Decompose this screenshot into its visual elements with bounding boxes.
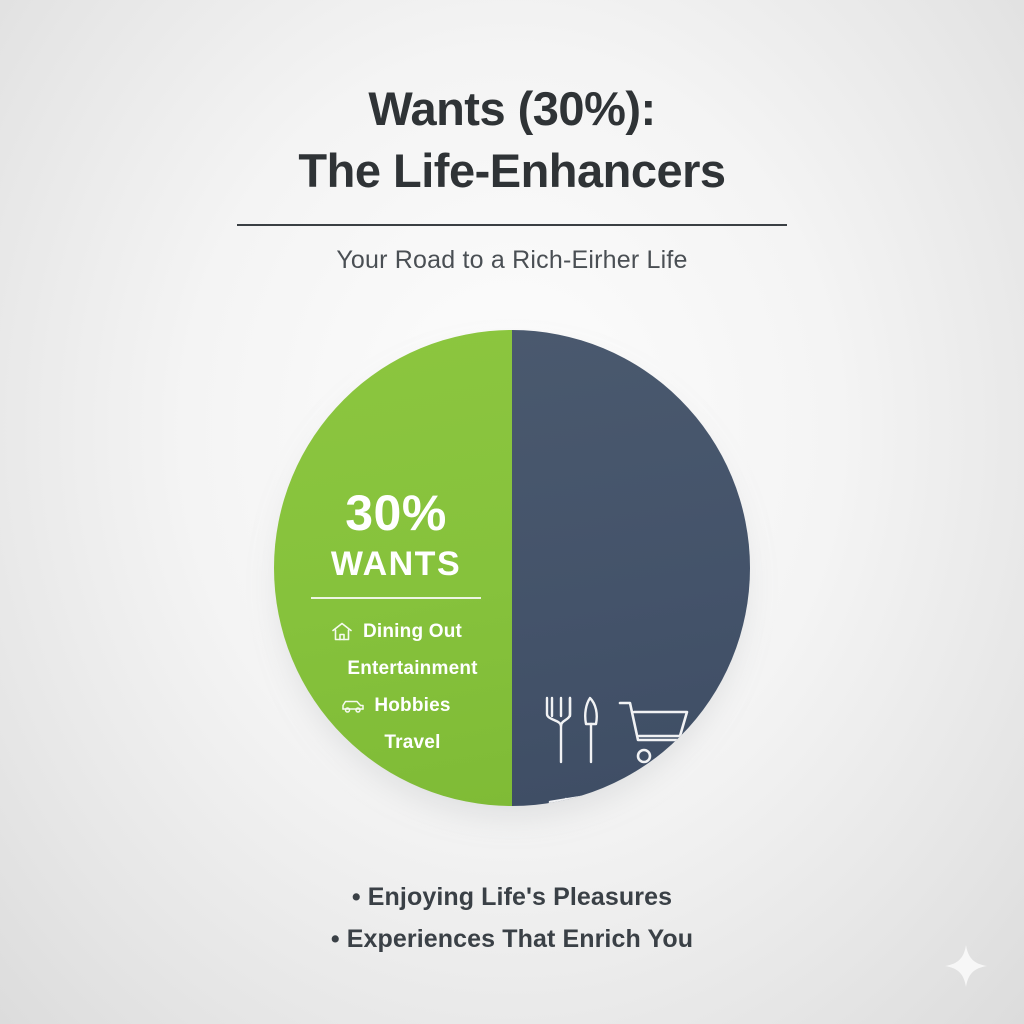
sparkle-icon (942, 942, 990, 990)
cutlery-icon (542, 694, 604, 771)
list-item-label: Entertainment (347, 658, 477, 680)
page-title-line-2: The Life-Enhancers (0, 140, 1024, 202)
circle-body: 30% WANTS Dining Out Entertai (274, 330, 750, 806)
wants-percent-label: WANTS (280, 547, 512, 581)
wants-category-list: Dining Out Entertainment (280, 613, 512, 761)
list-item-label: Hobbies (374, 695, 450, 717)
bullet-item: • Enjoying Life's Pleasures (0, 876, 1024, 918)
summary-divider (311, 597, 481, 599)
shopping-cart-icon (617, 698, 693, 773)
title-divider (237, 224, 787, 226)
list-item: Travel (280, 724, 512, 761)
wants-summary: 30% WANTS Dining Out Entertai (280, 488, 512, 761)
list-item: Entertainment (280, 650, 512, 687)
list-item: Dining Out (280, 613, 512, 650)
list-item-label: Travel (384, 732, 440, 754)
page-subtitle: Your Road to a Rich-Eirher Life (0, 246, 1024, 275)
page-title-line-1: Wants (30%): (0, 78, 1024, 140)
wants-pie-chart: 30% WANTS Dining Out Entertai (274, 330, 750, 806)
car-icon (341, 695, 365, 717)
wants-percent: 30% (280, 488, 512, 538)
page-header: Wants (30%): The Life-Enhancers Your Roa… (0, 78, 1024, 275)
list-item: Hobbies (280, 687, 512, 724)
list-item-label: Dining Out (363, 621, 462, 643)
bullet-item: • Experiences That Enrich You (0, 918, 1024, 960)
house-icon (330, 621, 354, 643)
footer-bullets: • Enjoying Life's Pleasures • Experience… (0, 876, 1024, 960)
clapperboard-icon (546, 785, 624, 806)
